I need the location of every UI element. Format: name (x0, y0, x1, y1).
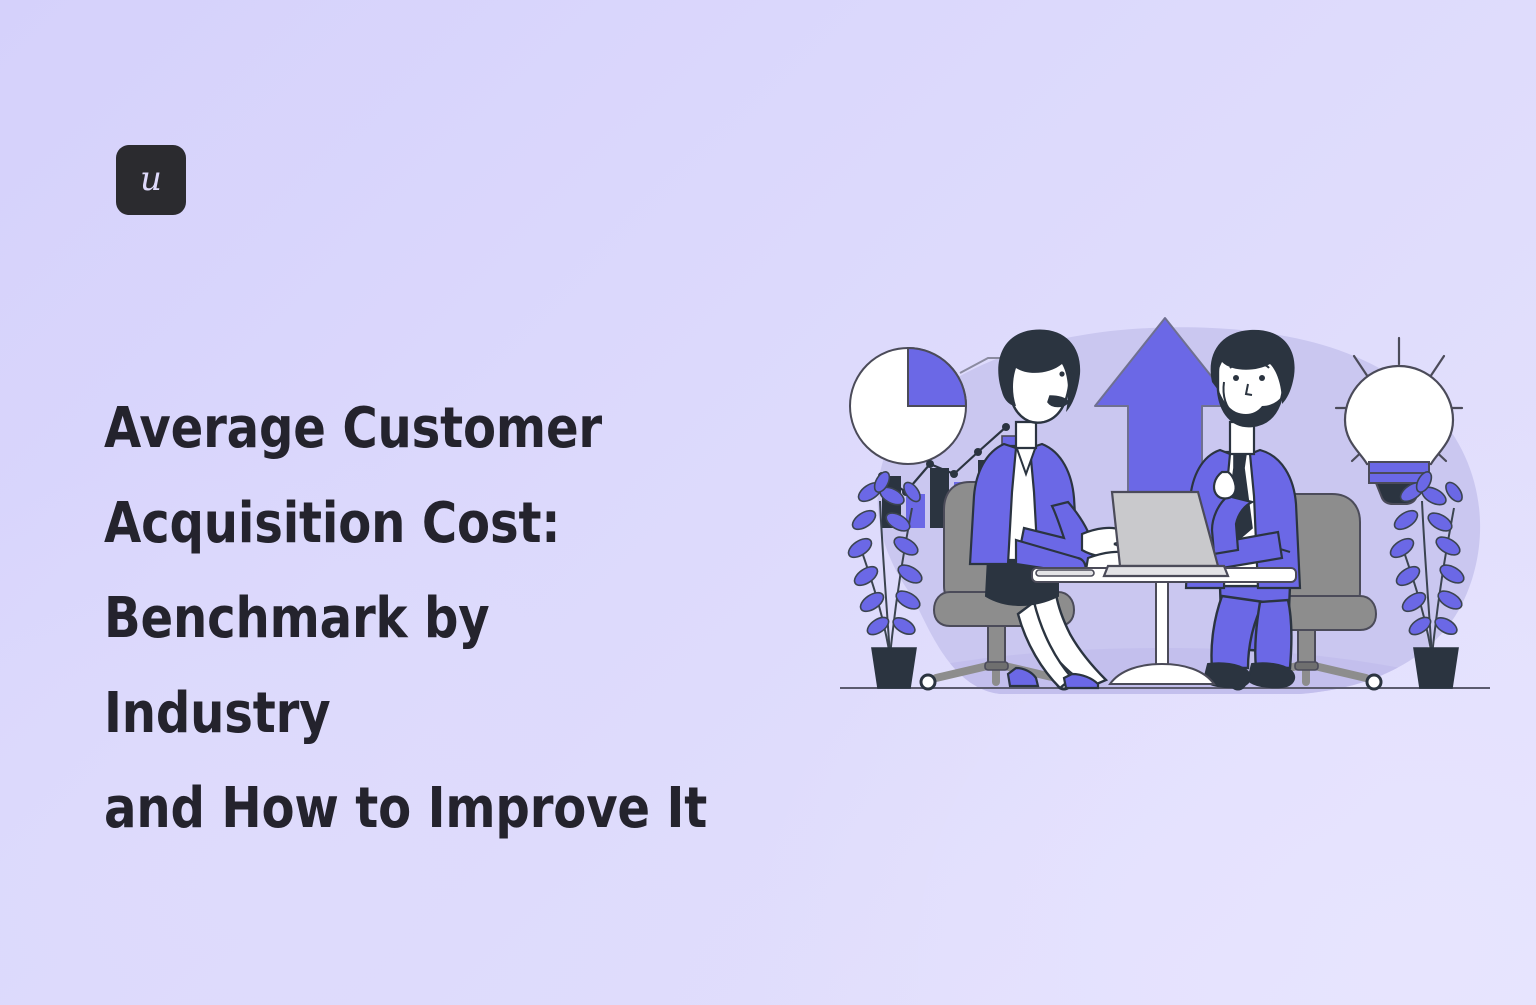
brand-logo-glyph: u (140, 162, 162, 196)
hero-banner: u Average Customer Acquisition Cost: Ben… (0, 0, 1536, 1005)
hero-illustration (820, 296, 1510, 736)
brand-logo[interactable]: u (116, 145, 186, 215)
page-title: Average Customer Acquisition Cost: Bench… (104, 381, 723, 856)
